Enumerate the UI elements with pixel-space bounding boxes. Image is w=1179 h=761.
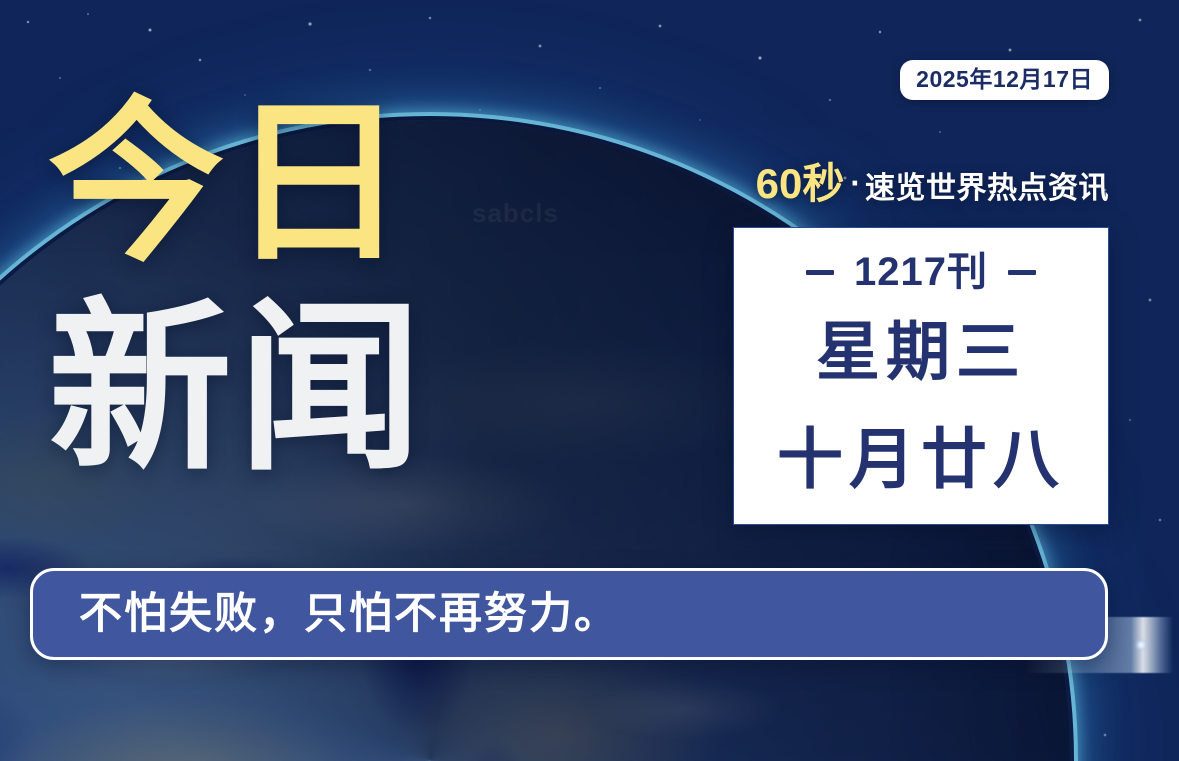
weekday-label: 星期三 — [816, 320, 1026, 384]
date-badge: 2025年12月17日 — [900, 60, 1109, 100]
issue-label: 1217刊 — [854, 252, 988, 292]
tagline-highlight: 60秒 — [756, 160, 845, 207]
tagline-rest: 速览世界热点资讯 — [865, 172, 1109, 205]
lunar-date-label: 十月廿八 — [777, 426, 1065, 492]
watermark: sabcls — [472, 198, 559, 229]
quote-text: 不怕失败，只怕不再努力。 — [33, 593, 619, 636]
date-card: 1217刊 星期三 十月廿八 — [733, 227, 1109, 525]
title-line-today: 今日 — [48, 96, 468, 272]
issue-row: 1217刊 — [806, 244, 1036, 294]
news-poster: sabcls 今日 新闻 2025年12月17日 60秒·速览世界热点资讯 12… — [0, 0, 1179, 761]
dash-left-icon — [806, 270, 834, 275]
dash-right-icon — [1008, 270, 1036, 275]
tagline-separator: · — [844, 165, 865, 201]
tagline: 60秒·速览世界热点资讯 — [733, 100, 1109, 211]
title-line-news: 新闻 — [48, 296, 468, 480]
quote-bar: 不怕失败，只怕不再努力。 — [30, 568, 1108, 660]
right-column: 2025年12月17日 60秒·速览世界热点资讯 1217刊 星期三 十月廿八 — [733, 60, 1109, 525]
page-title: 今日 新闻 — [48, 96, 468, 480]
